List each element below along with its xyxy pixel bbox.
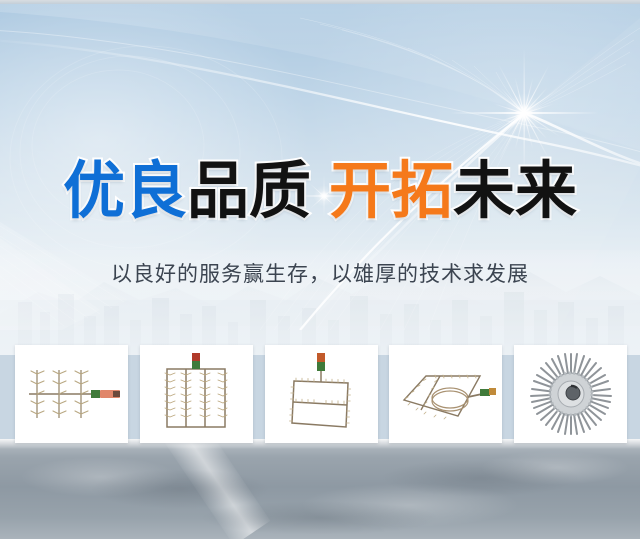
headline-part-1: 优良 [63,154,187,227]
headline-part-2: 品质 [187,154,311,227]
ground-surface [0,439,640,539]
product-card-3[interactable] [265,345,378,443]
promo-banner: 优良品质开拓未来 以良好的服务赢生存，以雄厚的技术求发展 [0,0,640,539]
product-card-4[interactable] [389,345,502,443]
product-card-5[interactable] [514,345,627,443]
headline-part-4: 未来 [453,154,577,227]
radial-spike-hub-rack-icon [527,350,615,438]
vertical-hook-frame-rack-icon [153,351,239,437]
headline: 优良品质开拓未来 [0,160,640,222]
headline-container: 优良品质开拓未来 [0,160,640,222]
top-edge-strip [0,0,640,4]
subtitle: 以良好的服务赢生存，以雄厚的技术求发展 [0,258,640,288]
product-card-1[interactable] [15,345,128,443]
headline-part-3: 开拓 [329,154,453,227]
flat-frame-ring-rack-icon [396,356,496,432]
ground-shadow [380,459,580,497]
rectangular-frame-rack-icon [278,351,364,437]
horizontal-comb-rack-icon [19,354,124,434]
ground-shadow [90,469,270,509]
product-card-2[interactable] [140,345,253,443]
ground-shadow [200,501,440,535]
product-card-list [15,345,627,445]
